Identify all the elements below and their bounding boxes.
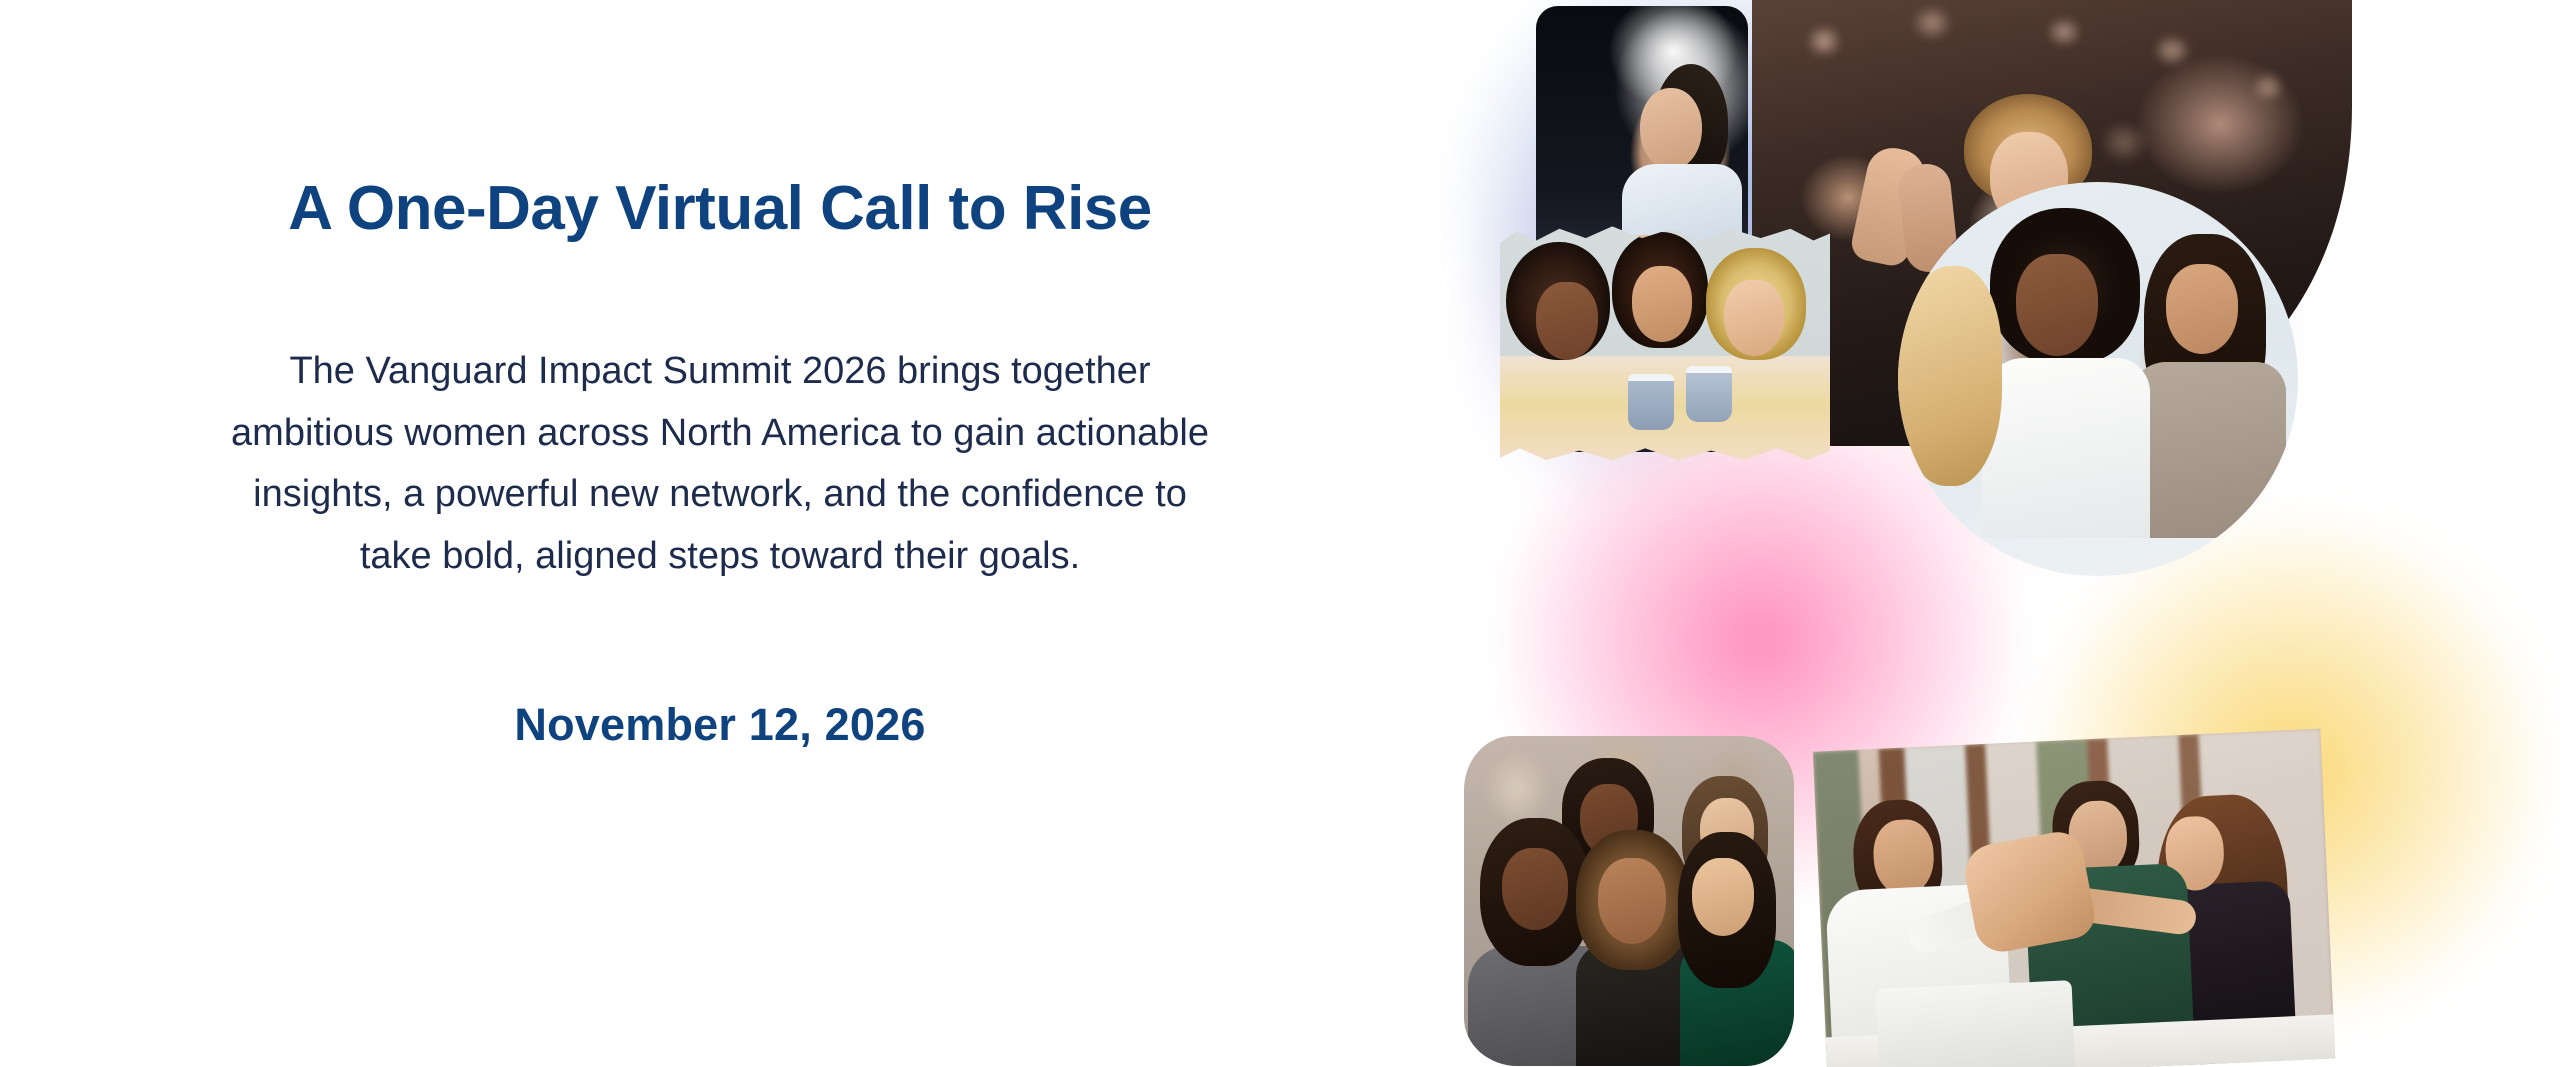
- laughing-friends-coffee-photo: [1500, 224, 1830, 460]
- friend-three-face: [1724, 280, 1784, 356]
- foreground-blonde-hair: [1898, 266, 2002, 486]
- friend-two-face: [1632, 266, 1692, 342]
- event-date: November 12, 2026: [220, 699, 1220, 751]
- coffee-mug-right: [1686, 366, 1732, 422]
- hero-description: The Vanguard Impact Summit 2026 brings t…: [220, 341, 1220, 587]
- group-left-woman-face: [1502, 848, 1568, 930]
- high-five-hands: [1960, 828, 2098, 956]
- laptop: [1876, 980, 2076, 1067]
- coffee-mug-left: [1628, 374, 1674, 430]
- table-woman-two-blouse: [2130, 362, 2286, 538]
- hero-banner: A One-Day Virtual Call to Rise The Vangu…: [0, 0, 2560, 1067]
- hero-copy-column: A One-Day Virtual Call to Rise The Vangu…: [0, 0, 1440, 1067]
- women-at-table-photo: [1898, 182, 2298, 576]
- group-portrait-photo: [1464, 736, 1794, 1066]
- table-woman-two-face: [2166, 264, 2238, 354]
- table-woman-one-face: [2016, 254, 2098, 356]
- page-title: A One-Day Virtual Call to Rise: [170, 176, 1270, 243]
- group-center-woman-face: [1598, 858, 1666, 944]
- office-high-five-photo: [1813, 729, 2335, 1067]
- table-woman-one-top: [1982, 358, 2150, 538]
- speaker-face: [1640, 88, 1702, 170]
- photo-collage: [1440, 0, 2560, 1067]
- friend-one-face: [1536, 282, 1598, 360]
- group-right-woman-face: [1692, 858, 1754, 936]
